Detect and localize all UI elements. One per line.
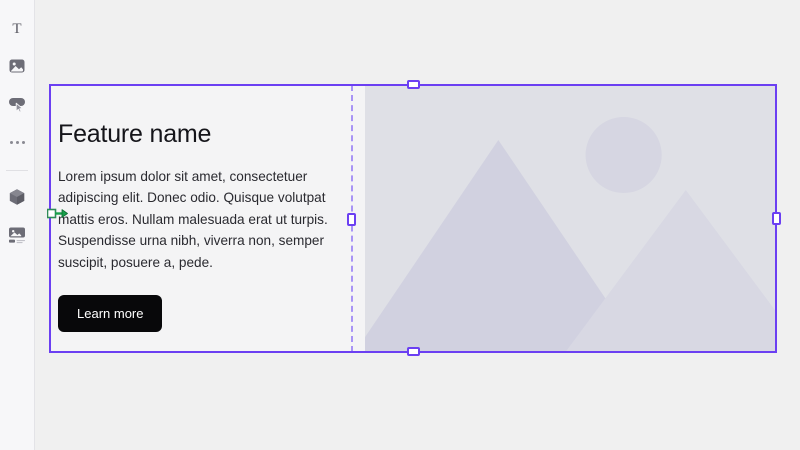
cube-icon (7, 187, 27, 207)
button-cursor-icon (6, 94, 28, 114)
more-tools-button[interactable] (2, 126, 32, 158)
learn-more-button[interactable]: Learn more (58, 295, 162, 332)
design-tool-window: T (0, 0, 800, 450)
image-tool-button[interactable] (2, 50, 32, 82)
tool-rail: T (0, 0, 35, 450)
feature-body-text: Lorem ipsum dolor sit amet, consectetuer… (58, 166, 330, 274)
feature-media-placeholder[interactable] (365, 85, 776, 352)
feature-section[interactable]: Feature name Lorem ipsum dolor sit amet,… (50, 85, 776, 352)
resize-handle-bottom[interactable] (407, 347, 420, 356)
resize-handle-gap[interactable] (347, 213, 356, 226)
text-tool-button[interactable]: T (2, 12, 32, 44)
more-horizontal-icon (10, 141, 25, 144)
button-tool-button[interactable] (2, 88, 32, 120)
svg-text:T: T (12, 21, 21, 37)
feature-text-column: Feature name Lorem ipsum dolor sit amet,… (50, 85, 365, 352)
text-icon: T (8, 19, 26, 37)
resize-handle-top[interactable] (407, 80, 420, 89)
rail-divider (6, 170, 28, 171)
feature-title: Feature name (58, 121, 341, 149)
image-icon (7, 56, 27, 76)
design-canvas[interactable]: Feature name Lorem ipsum dolor sit amet,… (36, 0, 800, 450)
resize-handle-right[interactable] (772, 212, 781, 225)
media-card-icon (6, 225, 28, 245)
placeholder-landscape-icon (365, 85, 776, 352)
media-card-tool-button[interactable] (2, 219, 32, 251)
component-tool-button[interactable] (2, 181, 32, 213)
